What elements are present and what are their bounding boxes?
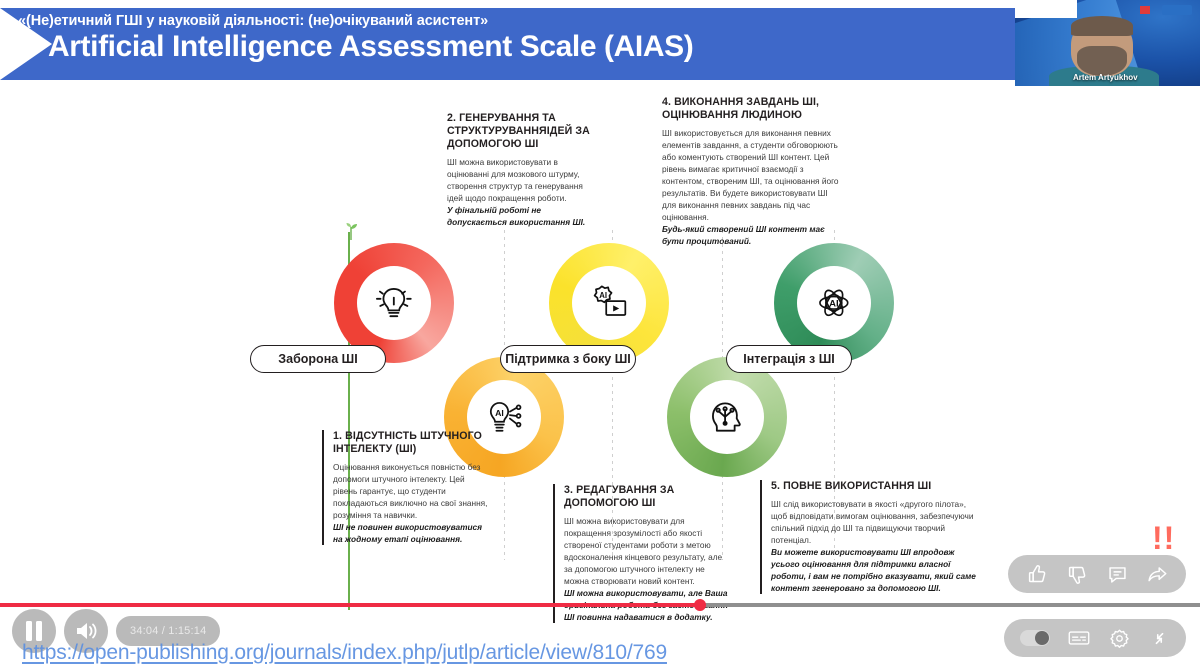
share-icon[interactable] [1146,563,1168,585]
thumbs-up-icon[interactable] [1026,563,1048,585]
volume-on-icon [74,620,98,642]
level-3-heading: 3. РЕДАГУВАННЯ ЗА ДОПОМОГОЮ ШІ [564,484,729,510]
progress-played [0,603,700,607]
speaker-beard [1077,46,1127,76]
level-5-text-block: 5. ПОВНЕ ВИКОРИСТАННЯ ШІ ШІ слід викорис… [760,480,978,594]
level-1-emphasis: ШІ не повинен використовуватися на жодно… [333,521,490,545]
pill-2-label: Підтримка з боку ШІ [505,352,631,366]
level-4-text-block: 4. ВИКОНАННЯ ЗАВДАНЬ ШІ, ОЦІНЮВАННЯ ЛЮДИ… [662,96,844,247]
level-5-heading: 5. ПОВНЕ ВИКОРИСТАННЯ ШІ [771,480,978,493]
level-5-body: ШІ слід використовувати в якості «другог… [771,498,978,546]
level-1-body: Оцінювання виконується повністю без допо… [333,461,490,521]
captions-icon[interactable] [1068,627,1090,649]
level-4-heading: 4. ВИКОНАННЯ ЗАВДАНЬ ШІ, ОЦІНЮВАННЯ ЛЮДИ… [662,96,844,122]
level-1-heading: 1. ВІДСУТНІСТЬ ШТУЧНОГО ІНТЕЛЕКТУ (ШІ) [333,430,490,456]
thumbs-down-icon[interactable] [1066,563,1088,585]
sprout-leaf-icon [340,222,362,240]
pill-zaborona-shi: Заборона ШІ [250,345,386,373]
pill-integracia-shi: Інтеграція з ШІ [726,345,852,373]
slide-header-banner: «(Не)етичний ГШІ у науковій діяльності: … [0,8,1063,80]
level-4-body: ШІ використовується для виконання певних… [662,127,844,223]
lightbulb-icon [373,282,415,324]
comment-icon[interactable] [1106,563,1128,585]
banner-title: Artificial Intelligence Assessment Scale… [48,30,693,64]
ring-level-5 [667,357,787,477]
time-text: 34:04 / 1:15:14 [130,625,206,637]
level-2-heading: 2. ГЕНЕРУВАННЯ ТА СТРУКТУРУВАННЯІДЕЙ ЗА … [447,112,597,151]
level-2-body: ШІ можна використовувати в оцінюванні дл… [447,156,597,204]
url-overlay-text[interactable]: https://open-publishing.org/journals/ind… [22,641,667,665]
red-exclamation-annotation: !! [1152,522,1175,554]
level-1-text-block: 1. ВІДСУТНІСТЬ ШТУЧНОГО ІНТЕЛЕКТУ (ШІ) О… [322,430,490,545]
progress-handle[interactable] [694,599,706,611]
level-2-text-block: 2. ГЕНЕРУВАННЯ ТА СТРУКТУРУВАННЯІДЕЙ ЗА … [447,112,597,228]
ring-5-center: AI [797,266,871,340]
speaker-hair [1071,16,1133,36]
pill-pidtrymka-shi: Підтримка з боку ШІ [500,345,636,373]
svg-text:AI: AI [599,291,607,300]
autoplay-toggle[interactable] [1020,630,1050,646]
speaker-webcam-overlay[interactable]: Artem Artyukhov [1015,0,1200,86]
pill-1-label: Заборона ШІ [278,352,357,366]
pause-icon [24,620,44,642]
webcam-logo-red [1140,6,1150,14]
player-reaction-controls [1008,555,1186,593]
webcam-logo-blue [1162,5,1192,15]
svg-text:AI: AI [829,299,839,310]
ring-1-center [357,266,431,340]
minimize-icon[interactable] [1148,627,1170,649]
settings-gear-icon[interactable] [1108,627,1130,649]
level-3-body: ШІ можна використовувати для покращення … [564,515,729,587]
ai-video-icon: AI [588,282,630,324]
player-settings-controls [1004,619,1186,657]
ring-3-center: AI [572,266,646,340]
ai-brain-head-icon [706,396,748,438]
ring-4-center [690,380,764,454]
video-player[interactable]: «(Не)етичний ГШІ у науковій діяльності: … [0,0,1200,671]
level-2-emphasis: У фінальній роботі не допускається викор… [447,204,597,228]
speaker-name-label: Artem Artyukhov [1073,73,1138,82]
progress-bar[interactable] [0,601,1200,609]
level-4-emphasis: Будь-який створений ШІ контент має бути … [662,223,844,247]
ai-atom-icon: AI [813,282,855,324]
pill-3-label: Інтеграція з ШІ [743,352,835,366]
banner-subtitle: «(Не)етичний ГШІ у науковій діяльності: … [18,13,488,29]
level-5-emphasis: Ви можете використовувати ШІ впродовж ус… [771,546,978,594]
autoplay-toggle-knob [1035,631,1049,645]
webcam-white-corner [1015,0,1077,18]
svg-text:AI: AI [495,408,504,418]
